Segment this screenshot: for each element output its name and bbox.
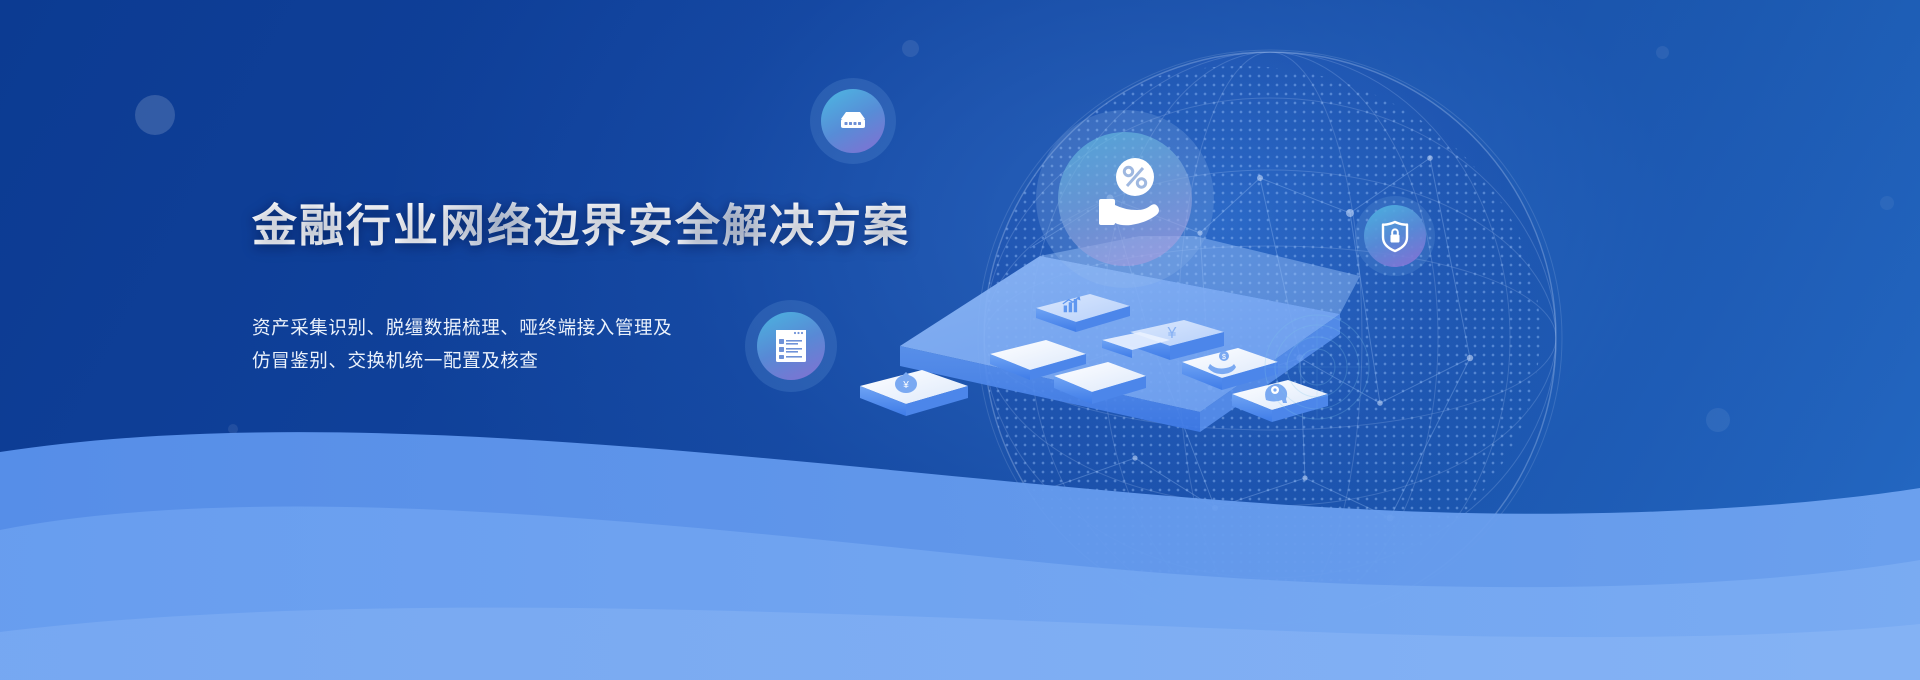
svg-text:¥: ¥: [1167, 325, 1177, 342]
bottom-wave-decoration: [0, 380, 1920, 680]
page-subtitle: 资产采集识别、脱缰数据梳理、哑终端接入管理及 仿冒鉴别、交换机统一配置及核查: [252, 311, 952, 377]
bubble-shield-lock: [1355, 196, 1435, 276]
banner-copy: 金融行业网络边界安全解决方案 资产采集识别、脱缰数据梳理、哑终端接入管理及 仿冒…: [252, 196, 952, 377]
bubble-network-switch: [810, 78, 896, 164]
document-list-icon: [769, 324, 813, 368]
bubble-percent-hand: [1036, 110, 1214, 288]
network-switch-icon: [833, 101, 873, 141]
decor-circle: [1656, 46, 1669, 59]
subtitle-line-1: 资产采集识别、脱缰数据梳理、哑终端接入管理及: [252, 311, 952, 344]
subtitle-line-2: 仿冒鉴别、交换机统一配置及核查: [252, 344, 952, 377]
page-title: 金融行业网络边界安全解决方案: [252, 196, 952, 256]
decor-circle: [1880, 196, 1894, 210]
finance-solution-banner: ¥ ¥ $: [0, 0, 1920, 680]
decor-circle: [135, 95, 175, 135]
shield-lock-icon: [1375, 216, 1415, 256]
percent-hand-icon: [1073, 147, 1177, 251]
svg-text:$: $: [1222, 354, 1226, 361]
decor-circle: [902, 40, 919, 57]
